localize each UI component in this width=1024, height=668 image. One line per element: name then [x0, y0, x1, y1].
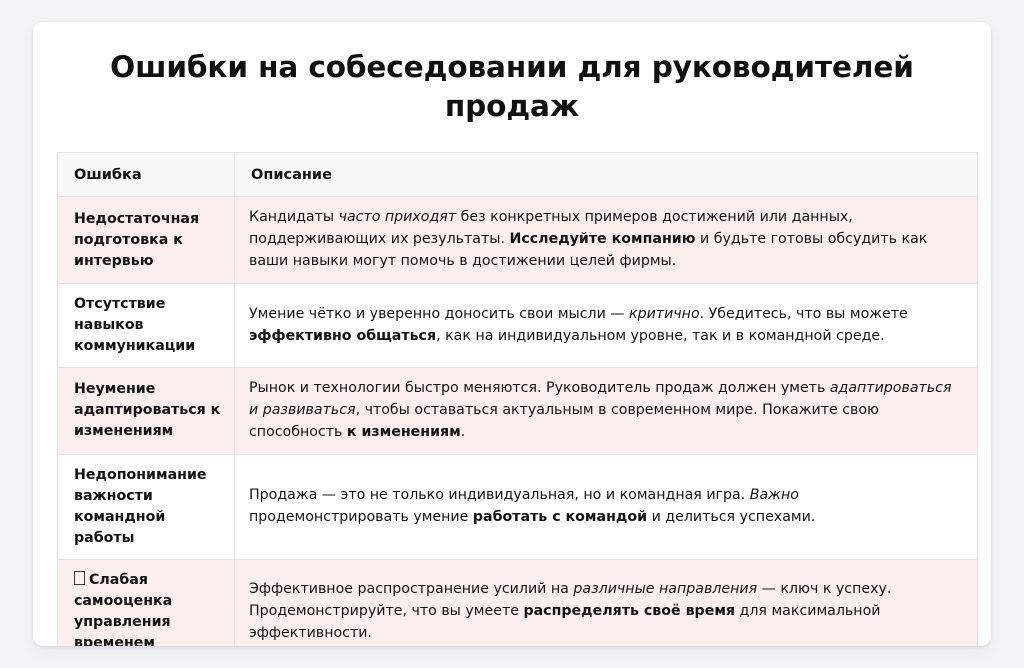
- table-row: Слабая самооценка управления временемЭфф…: [58, 559, 978, 646]
- table-header: Ошибка Описание: [58, 153, 978, 197]
- description-segment: Исследуйте компанию: [509, 231, 695, 247]
- description-segment: эффективно общаться: [249, 328, 436, 344]
- mistake-label: Недопонимание важности командной работы: [74, 467, 207, 546]
- mistake-label: Неумение адаптироваться к изменениям: [74, 381, 220, 439]
- mistake-cell: Неумение адаптироваться к изменениям: [58, 368, 235, 455]
- table-row: Отсутствие навыков коммуникацииУмение чё…: [58, 284, 978, 368]
- page-title: Ошибки на собеседовании для руководителе…: [55, 48, 969, 126]
- description-segment: .: [461, 424, 466, 440]
- description-segment: критично: [629, 306, 700, 322]
- page-root: Ошибки на собеседовании для руководителе…: [0, 0, 1024, 668]
- description-segment: работать с командой: [473, 509, 647, 525]
- mistake-cell: Слабая самооценка управления временем: [58, 559, 235, 646]
- description-segment: . Убедитесь, что вы можете: [700, 306, 908, 322]
- column-header-description: Описание: [235, 153, 978, 197]
- description-cell: Эффективное распространение усилий на ра…: [235, 559, 978, 646]
- description-segment: Эффективное распространение усилий на: [249, 581, 573, 597]
- table-body: Недостаточная подготовка к интервьюКанди…: [58, 197, 978, 646]
- description-segment: распределять своё время: [523, 603, 735, 619]
- mistake-label: Слабая самооценка управления временем: [74, 572, 172, 646]
- description-cell: Рынок и технологии быстро меняются. Руко…: [235, 368, 978, 455]
- content-card: Ошибки на собеседовании для руководителе…: [33, 22, 991, 646]
- description-segment: к изменениям: [347, 424, 461, 440]
- description-segment: Важно: [750, 487, 799, 503]
- description-segment: Умение чётко и уверенно доносить свои мы…: [249, 306, 629, 322]
- table-row: Недостаточная подготовка к интервьюКанди…: [58, 197, 978, 284]
- description-segment: различные направления: [573, 581, 757, 597]
- description-segment: Кандидаты: [249, 209, 339, 225]
- mistake-label: Недостаточная подготовка к интервью: [74, 211, 199, 269]
- description-cell: Кандидаты часто приходят без конкретных …: [235, 197, 978, 284]
- description-segment: и делиться успехами.: [647, 509, 815, 525]
- description-segment: продемонстрировать умение: [249, 509, 473, 525]
- mistake-cell: Недостаточная подготовка к интервью: [58, 197, 235, 284]
- description-segment: Продажа — это не только индивидуальная, …: [249, 487, 750, 503]
- table-row: Недопонимание важности командной работыП…: [58, 454, 978, 559]
- description-cell: Продажа — это не только индивидуальная, …: [235, 454, 978, 559]
- mistake-cell: Отсутствие навыков коммуникации: [58, 284, 235, 368]
- mistake-label: Отсутствие навыков коммуникации: [74, 296, 195, 354]
- description-segment: часто приходят: [339, 209, 457, 225]
- table-row: Неумение адаптироваться к изменениямРыно…: [58, 368, 978, 455]
- table-container: Ошибка Описание Недостаточная подготовка…: [55, 152, 969, 646]
- mistakes-table: Ошибка Описание Недостаточная подготовка…: [57, 152, 978, 646]
- description-cell: Умение чётко и уверенно доносить свои мы…: [235, 284, 978, 368]
- missing-glyph-icon: [74, 571, 85, 585]
- description-segment: , как на индивидуальном уровне, так и в …: [436, 328, 885, 344]
- column-header-mistake: Ошибка: [58, 153, 235, 197]
- mistake-cell: Недопонимание важности командной работы: [58, 454, 235, 559]
- table-header-row: Ошибка Описание: [58, 153, 978, 197]
- card-inner: Ошибки на собеседовании для руководителе…: [33, 22, 991, 646]
- description-segment: Рынок и технологии быстро меняются. Руко…: [249, 380, 830, 396]
